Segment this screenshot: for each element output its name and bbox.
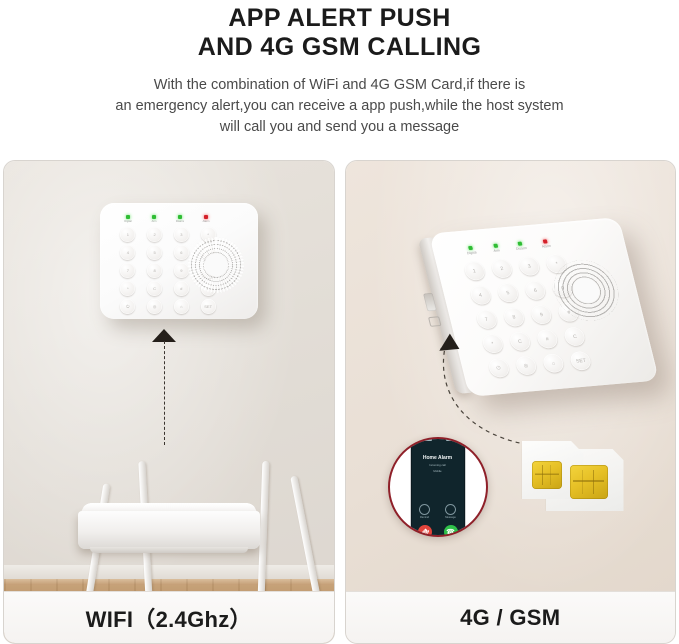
- caller-line-2: Mobile: [412, 469, 464, 473]
- right-panel-label: 4G / GSM: [460, 605, 560, 631]
- sim-cards-group: [522, 441, 626, 519]
- keypad-key[interactable]: 6: [523, 280, 547, 300]
- subtitle-line-1: With the combination of WiFi and 4G GSM …: [0, 75, 679, 96]
- keypad-key[interactable]: SET: [569, 351, 593, 371]
- header: APP ALERT PUSH AND 4G GSM CALLING With t…: [0, 0, 679, 138]
- keypad-key[interactable]: 2: [489, 258, 513, 278]
- keypad-key[interactable]: C: [508, 331, 532, 351]
- dashed-line: [164, 341, 165, 445]
- page-subtitle: With the combination of WiFi and 4G GSM …: [0, 75, 679, 138]
- led-label: Digital: [460, 250, 483, 256]
- led-disarm: Disarm: [508, 241, 532, 252]
- keypad-key[interactable]: *: [120, 281, 135, 296]
- right-panel-gsm: Digital Arm Disarm Alarm 1 2 3 * 4 5: [345, 160, 677, 644]
- keypad-key[interactable]: 8: [147, 263, 162, 278]
- speaker-grille-icon: [188, 237, 244, 293]
- led-row: Digital Arm Disarm Alarm: [117, 215, 217, 223]
- infographic-page: APP ALERT PUSH AND 4G GSM CALLING With t…: [0, 0, 679, 644]
- keypad-key[interactable]: *: [480, 334, 504, 354]
- wifi-router: [78, 493, 260, 555]
- left-label-bar: WIFI（2.4Ghz）: [4, 591, 334, 643]
- led-label: Disarm: [169, 220, 191, 223]
- subtitle-line-2: an emergency alert,you can receive a app…: [0, 96, 679, 117]
- keypad-key[interactable]: 5: [495, 283, 519, 303]
- keypad-key[interactable]: SET: [201, 299, 216, 314]
- keypad-key[interactable]: C: [563, 326, 587, 346]
- led-alarm: Alarm: [533, 239, 557, 250]
- keypad-key[interactable]: #: [535, 329, 559, 349]
- keypad-key[interactable]: 1: [120, 227, 135, 242]
- keypad-key[interactable]: 9: [174, 263, 189, 278]
- left-panel-label: WIFI（2.4Ghz）: [86, 602, 252, 634]
- message-icon: [445, 504, 456, 515]
- alarm-host-panel: Digital Arm Disarm Alarm 1 2 3 * 4 5 6 0: [100, 203, 258, 319]
- sim-chip-icon: [570, 465, 608, 499]
- subtitle-line-3: will call you and send you a message: [0, 117, 679, 138]
- right-label-bar: 4G / GSM: [346, 591, 676, 643]
- incoming-call-callout: Home Alarm Incoming call Mobile Remind: [388, 437, 488, 537]
- caller-line-1: Incoming call: [412, 463, 464, 467]
- led-arm: Arm: [143, 215, 165, 223]
- led-digital: Digital: [117, 215, 139, 223]
- keypad-key[interactable]: 8: [502, 307, 526, 327]
- title-line-2: AND 4G GSM CALLING: [0, 33, 679, 62]
- led-label: Alarm: [534, 243, 557, 249]
- keypad-key[interactable]: 7: [474, 309, 498, 329]
- keypad-key[interactable]: 3: [174, 227, 189, 242]
- page-title: APP ALERT PUSH AND 4G GSM CALLING: [0, 4, 679, 62]
- left-panel-wifi: Digital Arm Disarm Alarm 1 2 3 * 4 5 6 0: [3, 160, 335, 644]
- led-label: Digital: [117, 220, 139, 223]
- led-label: Arm: [143, 220, 165, 223]
- sim-slot-icon: [428, 316, 442, 327]
- message-action[interactable]: Message: [445, 504, 456, 520]
- keypad-key[interactable]: ◎: [147, 299, 162, 314]
- keypad-key[interactable]: C: [147, 281, 162, 296]
- keypad-key[interactable]: ◎: [514, 356, 538, 376]
- led-label: Arm: [485, 248, 508, 254]
- clock-icon: [419, 504, 430, 515]
- keypad-key[interactable]: 5: [147, 245, 162, 260]
- led-row: Digital Arm Disarm Alarm: [458, 239, 557, 256]
- decline-call-button[interactable]: ☎: [415, 522, 435, 537]
- title-line-1: APP ALERT PUSH: [0, 4, 679, 33]
- router-body: [78, 511, 260, 549]
- keypad-key[interactable]: ⏻: [120, 299, 135, 314]
- keypad-key[interactable]: ⏻: [486, 358, 510, 378]
- panel-front-face: Digital Arm Disarm Alarm 1 2 3 * 4 5: [428, 217, 658, 397]
- keypad-key[interactable]: 4: [468, 285, 492, 305]
- keypad-key[interactable]: #: [174, 281, 189, 296]
- keypad-key[interactable]: 2: [147, 227, 162, 242]
- panels-row: Digital Arm Disarm Alarm 1 2 3 * 4 5 6 0: [0, 160, 679, 644]
- call-actions: Remind Message: [412, 504, 464, 520]
- keypad-key[interactable]: 6: [174, 245, 189, 260]
- led-label: Alarm: [195, 220, 217, 223]
- led-digital: Digital: [458, 245, 482, 256]
- keypad-key[interactable]: 4: [120, 245, 135, 260]
- keypad-key[interactable]: 9: [529, 305, 553, 325]
- connection-arrow-up: [164, 329, 166, 445]
- keypad-key[interactable]: 1: [462, 261, 486, 281]
- message-label: Message: [445, 516, 456, 519]
- remind-action[interactable]: Remind: [419, 504, 430, 520]
- caller-info: Home Alarm Incoming call Mobile: [412, 455, 464, 473]
- led-alarm: Alarm: [195, 215, 217, 223]
- keypad-key[interactable]: 3: [517, 256, 541, 276]
- phone-device: Home Alarm Incoming call Mobile Remind: [412, 437, 464, 537]
- sim-chip-icon: [532, 461, 562, 489]
- keypad-key[interactable]: ⌂: [174, 299, 189, 314]
- keypad-key[interactable]: ⌂: [541, 353, 565, 373]
- alarm-host-panel-angled: Digital Arm Disarm Alarm 1 2 3 * 4 5: [428, 217, 658, 397]
- router-base: [90, 547, 248, 553]
- caller-name: Home Alarm: [412, 455, 464, 461]
- led-label: Disarm: [509, 246, 532, 252]
- led-arm: Arm: [483, 243, 507, 254]
- right-scene: Digital Arm Disarm Alarm 1 2 3 * 4 5: [346, 161, 676, 643]
- remind-label: Remind: [419, 516, 430, 519]
- left-scene: Digital Arm Disarm Alarm 1 2 3 * 4 5 6 0: [4, 161, 334, 643]
- led-disarm: Disarm: [169, 215, 191, 223]
- keypad-key[interactable]: 7: [120, 263, 135, 278]
